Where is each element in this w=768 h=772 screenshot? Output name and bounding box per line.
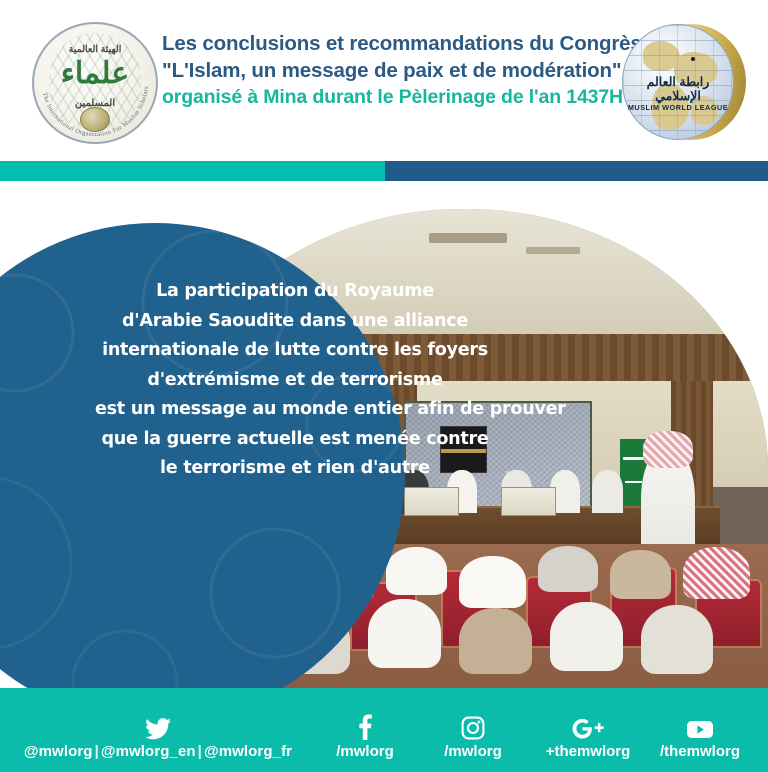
twitter-handle-en[interactable]: @mwlorg_en — [101, 743, 196, 760]
youtube-handle[interactable]: /themwlorg — [630, 743, 768, 760]
panel-member — [592, 470, 622, 513]
muslim-world-league-logo: رابطة العالم الإسلامي MUSLIM WORLD LEAGU… — [622, 20, 746, 144]
header-title-line3: organisé à Mina durant le Pèlerinage de … — [162, 84, 614, 111]
twitter-icon[interactable] — [8, 714, 308, 740]
divider-bar-teal — [0, 161, 385, 181]
twitter-handle-main[interactable]: @mwlorg — [24, 743, 93, 760]
audience-person — [610, 550, 671, 599]
divider-bar-blue — [385, 161, 768, 181]
mwl-english-name: MUSLIM WORLD LEAGUE — [626, 103, 730, 112]
name-plate — [501, 487, 556, 516]
header-title-block: Les conclusions et recommandations du Co… — [162, 30, 614, 111]
mwl-wordmark: رابطة العالم الإسلامي MUSLIM WORLD LEAGU… — [626, 75, 730, 112]
ceiling-vent — [429, 233, 508, 244]
name-plate — [404, 487, 459, 516]
twitter-handles[interactable]: @mwlorg|@mwlorg_en|@mwlorg_fr — [8, 743, 308, 760]
audience-person — [683, 547, 750, 599]
quote-text: La participation du Royaume d'Arabie Sao… — [95, 277, 495, 484]
twitter-handle-fr[interactable]: @mwlorg_fr — [204, 743, 292, 760]
mwl-arabic-name: رابطة العالم الإسلامي — [626, 75, 730, 103]
logo-left-ring-text: The International Organization For Musli… — [32, 22, 158, 144]
audience-person — [641, 605, 714, 674]
audience-person — [538, 546, 599, 592]
ceiling-vent-secondary — [526, 247, 581, 254]
quote-line: internationale de lutte contre les foyer… — [95, 336, 495, 366]
quote-line: d'extrémisme et de terrorisme — [95, 366, 495, 396]
social-footer: @mwlorg|@mwlorg_en|@mwlorg_fr /mwlorg /m… — [0, 688, 768, 772]
logo-left-ring-label: The International Organization For Musli… — [41, 86, 150, 138]
header-title-line1: Les conclusions et recommandations du Co… — [162, 30, 614, 57]
quote-line: le terrorisme et rien d'autre — [95, 454, 495, 484]
poster: الهيئة العالمية علماء المسلمين The Inter… — [0, 0, 768, 772]
handle-separator: | — [196, 743, 204, 760]
quote-line: est un message au monde entier afin de p… — [95, 395, 495, 425]
social-youtube[interactable]: /themwlorg — [630, 714, 768, 760]
divider-bar — [0, 161, 768, 181]
quote-line: d'Arabie Saoudite dans une alliance — [95, 307, 495, 337]
header-title-line2: "L'Islam, un message de paix et de modér… — [162, 57, 614, 84]
youtube-icon[interactable] — [630, 714, 768, 740]
audience-person — [550, 602, 623, 671]
quote-line: La participation du Royaume — [95, 277, 495, 307]
header: الهيئة العالمية علماء المسلمين The Inter… — [0, 0, 768, 155]
handle-separator: | — [93, 743, 101, 760]
iomс-logo: الهيئة العالمية علماء المسلمين The Inter… — [32, 22, 158, 144]
content-area: واعتصموا بحبل — [0, 181, 768, 688]
audience-person — [459, 608, 532, 674]
social-twitter[interactable]: @mwlorg|@mwlorg_en|@mwlorg_fr — [8, 714, 308, 760]
svg-text:The International Organization: The International Organization For Musli… — [41, 86, 150, 138]
audience-person — [459, 556, 526, 608]
quote-line: que la guerre actuelle est menée contre — [95, 425, 495, 455]
